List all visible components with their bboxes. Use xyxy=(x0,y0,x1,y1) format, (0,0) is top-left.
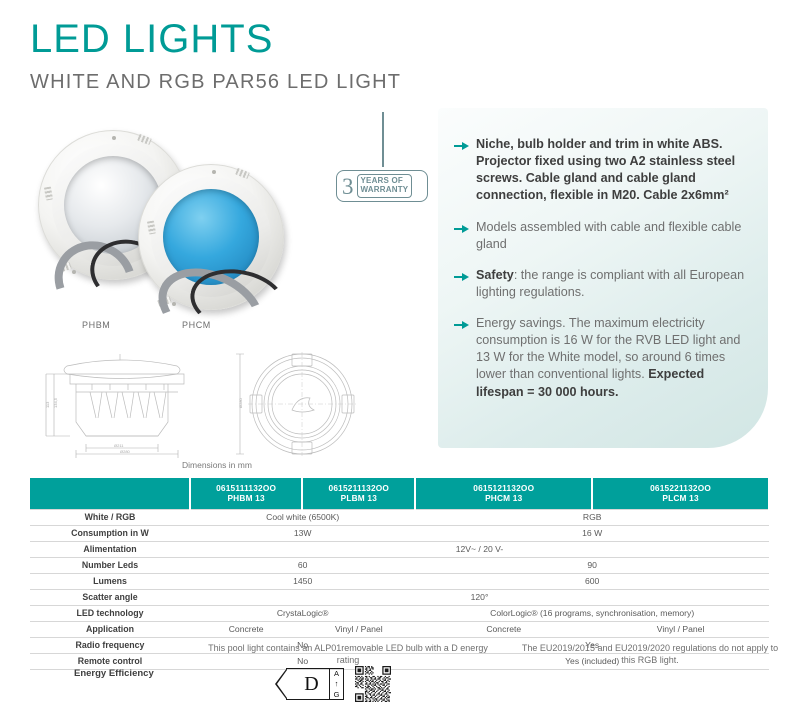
feature-text-2: Models assembled with cable and flexible… xyxy=(476,220,741,251)
table-cell: Cool white (6500K) xyxy=(190,509,415,525)
table-cell: 13W xyxy=(190,525,415,541)
table-cell: 12V~ / 20 V- xyxy=(190,541,769,557)
table-row: LED technologyCrystaLogic®ColorLogic® (1… xyxy=(30,605,769,621)
table-row: Lumens1450600 xyxy=(30,573,769,589)
product-model-2: PHCM 13 xyxy=(418,493,589,503)
photo-label-phbm: PHBM xyxy=(82,320,110,330)
table-cell: 90 xyxy=(415,557,769,573)
row-label: Number Leds xyxy=(30,557,190,573)
product-code-3: 0615221132OO xyxy=(595,483,766,493)
table-cell: 1450 xyxy=(190,573,415,589)
warranty-text: YEARS OF WARRANTY xyxy=(357,174,413,197)
technical-drawings: 113 134,5 Ø211 Ø280 Ø280 Dimensions in m… xyxy=(32,352,392,474)
table-row: Alimentation12V~ / 20 V- xyxy=(30,541,769,557)
energy-efficiency-label: Energy Efficiency xyxy=(74,668,154,679)
rgb-regulation-note: The EU2019/2015 and EU2019/2020 regulati… xyxy=(520,642,780,666)
table-header-col-0: 0615111132OO PHBM 13 xyxy=(190,478,302,509)
footer-energy-section: Energy Efficiency This pool light contai… xyxy=(30,640,770,708)
feature-item-2: Models assembled with cable and flexible… xyxy=(452,219,750,253)
arrow-right-icon xyxy=(454,269,469,281)
table-header-col-2: 0615121132OO PHCM 13 xyxy=(415,478,592,509)
warranty-years-number: 3 xyxy=(342,175,354,198)
arrow-right-icon xyxy=(454,138,469,150)
energy-grade-letter: D xyxy=(286,668,330,700)
warranty-pole xyxy=(382,112,384,167)
table-header-col-1: 0615211132OO PLBM 13 xyxy=(302,478,415,509)
feature-item-1: Niche, bulb holder and trim in white ABS… xyxy=(452,136,750,205)
product-model-3: PLCM 13 xyxy=(595,493,766,503)
svg-text:Ø211: Ø211 xyxy=(114,443,124,448)
table-cell: Vinyl / Panel xyxy=(302,621,415,637)
product-model-0: PHBM 13 xyxy=(193,493,299,503)
feature-text-3-strong: Safety xyxy=(476,268,514,282)
table-cell: RGB xyxy=(415,509,769,525)
page-subtitle: WHITE AND RGB PAR56 LED LIGHT xyxy=(30,71,401,94)
row-label: Alimentation xyxy=(30,541,190,557)
svg-text:113: 113 xyxy=(45,401,50,408)
feature-item-3: Safety: the range is compliant with all … xyxy=(452,267,750,301)
feature-item-4: Energy savings. The maximum electricity … xyxy=(452,315,750,401)
table-row: Scatter angle120° xyxy=(30,589,769,605)
energy-scale-bottom: G xyxy=(334,691,340,699)
table-row: Number Leds6090 xyxy=(30,557,769,573)
feature-panel: Niche, bulb holder and trim in white ABS… xyxy=(438,108,768,448)
table-cell: 16 W xyxy=(415,525,769,541)
arrow-right-icon xyxy=(454,317,469,329)
drawing-front-view: Ø280 xyxy=(232,352,372,460)
photo-label-phcm: PHCM xyxy=(182,320,211,330)
drawings-caption: Dimensions in mm xyxy=(182,460,252,470)
bulb-energy-note: This pool light contains an ALP01removab… xyxy=(198,642,498,666)
row-label: LED technology xyxy=(30,605,190,621)
row-label: Application xyxy=(30,621,190,637)
energy-scale: A ↑ G xyxy=(330,668,344,700)
table-cell: CrystaLogic® xyxy=(190,605,415,621)
energy-rating-badge: D A ↑ G xyxy=(286,668,344,700)
page-header: LED LIGHTS WHITE AND RGB PAR56 LED LIGHT xyxy=(30,18,401,94)
table-cell: 60 xyxy=(190,557,415,573)
svg-text:Ø280: Ø280 xyxy=(120,449,131,454)
screw xyxy=(212,170,216,174)
table-header-row: 0615111132OO PHBM 13 0615211132OO PLBM 1… xyxy=(30,478,769,509)
feature-text-3: : the range is compliant with all Europe… xyxy=(476,268,744,299)
table-header-col-3: 0615221132OO PLCM 13 xyxy=(592,478,769,509)
table-row: ApplicationConcreteVinyl / PanelConcrete… xyxy=(30,621,769,637)
table-cell: ColorLogic® (16 programs, synchronisatio… xyxy=(415,605,769,621)
svg-text:134,5: 134,5 xyxy=(53,397,58,408)
screw xyxy=(112,136,116,140)
arrow-right-icon xyxy=(454,221,469,233)
row-label: Lumens xyxy=(30,573,190,589)
product-code-0: 0615111132OO xyxy=(193,483,299,493)
warranty-badge: 3 YEARS OF WARRANTY xyxy=(336,112,432,220)
feature-text-1: Niche, bulb holder and trim in white ABS… xyxy=(476,137,735,202)
table-cell: Concrete xyxy=(415,621,592,637)
svg-text:Ø280: Ø280 xyxy=(238,397,243,408)
qr-code xyxy=(355,666,391,702)
row-label: Consumption in W xyxy=(30,525,190,541)
energy-scale-top: A xyxy=(334,670,339,678)
product-code-2: 0615121132OO xyxy=(418,483,589,493)
warranty-line2: WARRANTY xyxy=(361,186,409,195)
table-cell: 120° xyxy=(190,589,769,605)
row-label: Scatter angle xyxy=(30,589,190,605)
product-model-1: PLBM 13 xyxy=(305,493,412,503)
page-title: LED LIGHTS xyxy=(30,18,401,60)
product-code-1: 0615211132OO xyxy=(305,483,412,493)
table-cell: 600 xyxy=(415,573,769,589)
table-header-blank xyxy=(30,478,190,509)
row-label: White / RGB xyxy=(30,509,190,525)
table-row: White / RGBCool white (6500K)RGB xyxy=(30,509,769,525)
table-row: Consumption in W13W16 W xyxy=(30,525,769,541)
drawing-side-view: 113 134,5 Ø211 Ø280 xyxy=(32,352,222,460)
energy-scale-arrow-icon: ↑ xyxy=(335,680,339,688)
table-cell: Vinyl / Panel xyxy=(592,621,769,637)
table-cell: Concrete xyxy=(190,621,302,637)
warranty-box: 3 YEARS OF WARRANTY xyxy=(336,170,428,202)
